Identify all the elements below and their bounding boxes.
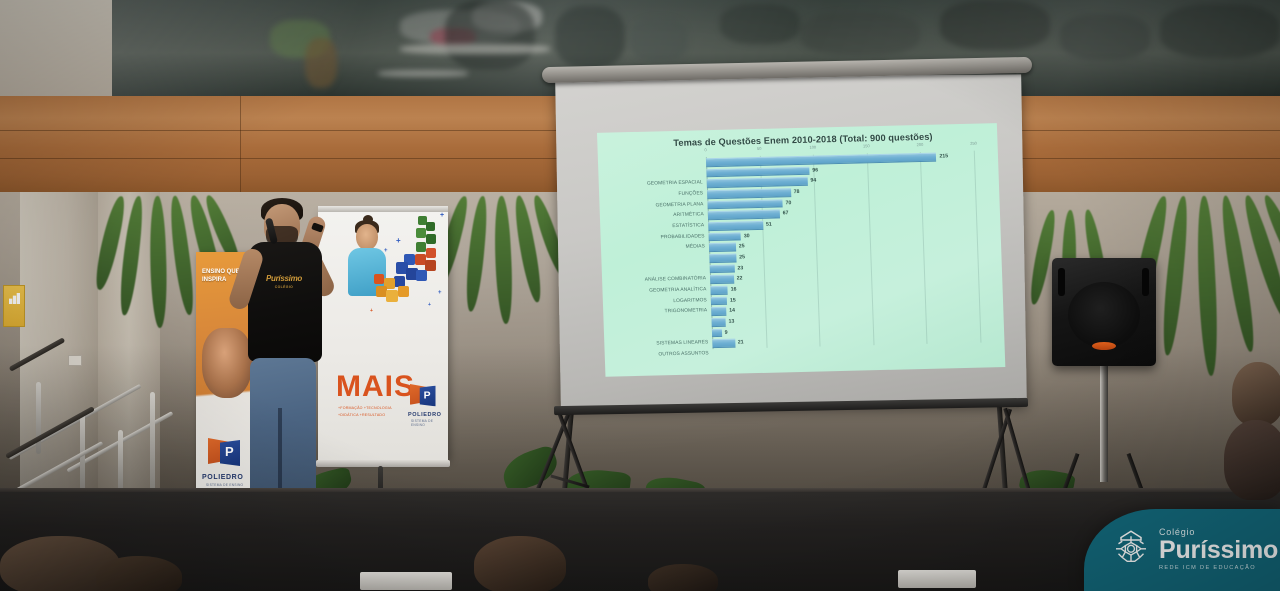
audience-head-4 bbox=[648, 564, 718, 591]
chart-bar bbox=[712, 318, 726, 327]
chart-category-label: PROBABILIDADES bbox=[660, 233, 704, 242]
auditorium-photo: Temas de Questões Enem 2010-2018 (Total:… bbox=[0, 0, 1280, 591]
chart-xtick-label: 50 bbox=[757, 146, 762, 151]
pa-speaker-badge bbox=[1092, 342, 1116, 350]
logo-brand-name: Puríssimo bbox=[1159, 538, 1278, 563]
chart-bar bbox=[710, 286, 727, 295]
chart-bar bbox=[712, 329, 722, 338]
chart-bar-value: 67 bbox=[783, 210, 789, 219]
pa-speaker-pole bbox=[1100, 362, 1108, 482]
wall-sign bbox=[3, 285, 25, 327]
chart-gridline bbox=[920, 152, 928, 344]
banner-mais-puzzle-graphic: + + + + + + bbox=[372, 214, 448, 334]
chart-bar bbox=[709, 243, 736, 252]
chart-bar-fill bbox=[707, 177, 808, 188]
banner-mais-headline: MAIS bbox=[336, 372, 415, 402]
handrail-post-3 bbox=[118, 430, 123, 492]
pa-speaker-driver bbox=[1068, 282, 1140, 348]
logo-overlay: Colégio Puríssimo REDE ICM DE EDUCAÇÃO bbox=[1084, 509, 1280, 591]
chart-bar bbox=[708, 210, 780, 220]
chart-xtick-label: 200 bbox=[916, 142, 923, 147]
chart-bar bbox=[711, 297, 727, 306]
chart-category-label: SISTEMAS LINEARES bbox=[656, 340, 708, 350]
chart-bar-value: 94 bbox=[810, 177, 816, 186]
presenter-shirt-logo: Puríssimo COLÉGIO bbox=[258, 274, 310, 287]
chart-gridline bbox=[974, 151, 982, 343]
chart-bar-fill bbox=[712, 318, 726, 327]
banner-mais-poliedro-sub: SISTEMA DE ENSINO bbox=[411, 419, 448, 427]
chart-bar-fill bbox=[708, 221, 763, 231]
chart-bar bbox=[710, 275, 734, 284]
projector-screen: Temas de Questões Enem 2010-2018 (Total:… bbox=[536, 62, 1036, 418]
chart-bar-fill bbox=[708, 210, 780, 220]
projected-slide: Temas de Questões Enem 2010-2018 (Total:… bbox=[597, 123, 1005, 377]
chart-title: Temas de Questões Enem 2010-2018 (Total:… bbox=[673, 132, 933, 148]
audience-head-3 bbox=[474, 536, 566, 591]
presenter-shirt-sub: COLÉGIO bbox=[258, 283, 310, 292]
chart-bar-value: 15 bbox=[730, 296, 736, 305]
chart-bar-fill bbox=[710, 264, 735, 273]
chart-bar-value: 70 bbox=[785, 199, 791, 208]
chart-bar-value: 13 bbox=[728, 318, 734, 327]
chart-category-label: GEOMETRIA ESPACIAL bbox=[647, 180, 703, 190]
banner-mais-poliedro-icon: P bbox=[410, 384, 437, 408]
chart-xtick-label: 100 bbox=[809, 145, 816, 150]
chart-category-label: TRIGONOMETRIA bbox=[665, 308, 708, 317]
audience-laptop-1 bbox=[360, 572, 452, 590]
chart-category-label: FUNÇÕES bbox=[678, 190, 703, 199]
banner-mais-poliedro-word: POLIEDRO bbox=[408, 412, 442, 418]
presenter-shirt-brand: Puríssimo bbox=[266, 274, 302, 283]
chart-bar bbox=[707, 199, 782, 209]
light-switch[interactable] bbox=[68, 355, 82, 366]
audience-head-2 bbox=[96, 556, 182, 591]
chart-bar-value: 16 bbox=[731, 286, 737, 295]
chart-bar bbox=[706, 166, 809, 177]
chart-bar-fill bbox=[709, 232, 741, 241]
chart-bar-fill bbox=[709, 243, 736, 252]
chart-bar-value: 96 bbox=[812, 166, 818, 175]
chart-bar-value: 78 bbox=[794, 188, 800, 197]
chart-category-label: MÉDIAS bbox=[686, 244, 706, 253]
chart-bar-fill bbox=[707, 199, 782, 209]
chart-bar-fill bbox=[709, 254, 736, 263]
chart-bar-fill bbox=[710, 275, 734, 284]
audience-head-5 bbox=[1232, 362, 1280, 426]
chart-bar-value: 51 bbox=[766, 221, 772, 230]
chart-bar-value: 14 bbox=[729, 307, 735, 316]
chart-category-label: GEOMETRIA ANALÍTICA bbox=[649, 286, 707, 296]
chart-bar-fill bbox=[706, 153, 937, 167]
chart-bar-fill bbox=[712, 339, 735, 348]
chart-category-label: ANÁLISE COMBINATÓRIA bbox=[645, 276, 707, 286]
chart-category-label: LOGARITMOS bbox=[673, 297, 707, 306]
chart-gridline bbox=[867, 153, 875, 345]
chart-bar bbox=[708, 221, 763, 231]
handrail-post-1 bbox=[36, 382, 41, 454]
chart-bar bbox=[706, 153, 937, 167]
chart-bar bbox=[712, 339, 735, 348]
pa-speaker-cabinet bbox=[1052, 258, 1156, 366]
chart-category-labels: GEOMETRIA ESPACIALFUNÇÕESGEOMETRIA PLANA… bbox=[598, 157, 709, 351]
logo-tagline: REDE ICM DE EDUCAÇÃO bbox=[1159, 566, 1278, 572]
audience-laptop-2 bbox=[898, 570, 976, 588]
chart-bar bbox=[710, 264, 735, 273]
chart-bar-value: 21 bbox=[738, 339, 744, 348]
chart-bar-fill bbox=[711, 307, 726, 316]
chart-bar-fill bbox=[712, 329, 722, 338]
upper-pillar bbox=[0, 0, 112, 100]
chart-bar-fill bbox=[711, 297, 727, 306]
chart-bar-value: 9 bbox=[725, 329, 728, 337]
chart-bar-fill bbox=[707, 188, 791, 198]
chart-category-label: ESTATÍSTICA bbox=[672, 222, 704, 231]
chart-category-label: OUTROS ASSUNTOS bbox=[658, 350, 709, 360]
chart-bar bbox=[707, 188, 791, 198]
handrail-post-4 bbox=[150, 392, 155, 492]
chart-xtick-label: 250 bbox=[970, 141, 977, 146]
chart-bar-value: 25 bbox=[739, 243, 745, 252]
chart-category-label: GEOMETRIA PLANA bbox=[655, 201, 703, 211]
chart-bar bbox=[709, 254, 736, 263]
audience-head-6 bbox=[1224, 420, 1280, 500]
chart-bar-value: 30 bbox=[744, 232, 750, 241]
chart-bar-fill bbox=[706, 166, 809, 177]
chart-category-label: ARITMÉTICA bbox=[673, 212, 704, 221]
chart-bar bbox=[711, 307, 726, 316]
chart-bar-fill bbox=[710, 286, 727, 295]
chart-bar-value: 23 bbox=[737, 264, 743, 273]
chart-plot-area: 0501001502002502159694787067513025252322… bbox=[706, 151, 981, 349]
banner-mais-sub1: +FORMAÇÃO +TECNOLOGIA bbox=[338, 406, 392, 410]
screen-surface: Temas de Questões Enem 2010-2018 (Total:… bbox=[555, 74, 1027, 407]
chart-bar bbox=[707, 177, 808, 188]
chart-xtick-label: 0 bbox=[704, 147, 706, 152]
purissimo-crest-icon bbox=[1112, 530, 1150, 570]
chart-bar-value: 25 bbox=[739, 253, 745, 262]
chart-bar bbox=[709, 232, 741, 241]
chart-bar-value: 22 bbox=[737, 275, 743, 284]
chart-xtick-label: 150 bbox=[863, 143, 870, 148]
chart-bar-value: 215 bbox=[939, 152, 948, 161]
